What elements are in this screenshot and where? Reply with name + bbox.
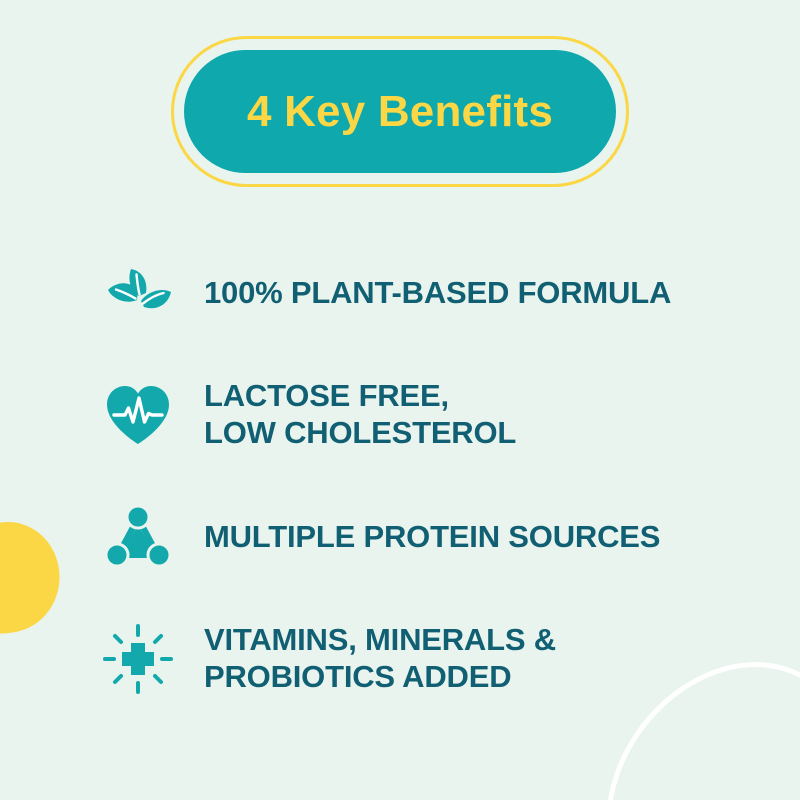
benefit-item-protein-sources: MULTIPLE PROTEIN SOURCES bbox=[0, 476, 800, 598]
benefits-poster: 4 Key Benefits bbox=[0, 0, 800, 800]
benefit-item-vitamins: VITAMINS, MINERALS & PROBIOTICS ADDED bbox=[0, 598, 800, 720]
benefits-list: 100% PLANT-BASED FORMULA LACTOSE FREE, L… bbox=[0, 232, 800, 720]
leaves-icon bbox=[100, 256, 176, 330]
benefit-label-vitamins: VITAMINS, MINERALS & PROBIOTICS ADDED bbox=[204, 622, 556, 695]
benefit-label-protein-sources: MULTIPLE PROTEIN SOURCES bbox=[204, 519, 660, 556]
benefit-label-lactose-free: LACTOSE FREE, LOW CHOLESTEROL bbox=[204, 378, 516, 451]
benefit-item-plant-based: 100% PLANT-BASED FORMULA bbox=[0, 232, 800, 354]
page-title: 4 Key Benefits bbox=[247, 90, 553, 134]
benefit-item-lactose-free: LACTOSE FREE, LOW CHOLESTEROL bbox=[0, 354, 800, 476]
benefit-label-plant-based: 100% PLANT-BASED FORMULA bbox=[204, 275, 671, 312]
heart-pulse-icon bbox=[100, 378, 176, 452]
molecule-triangle-icon bbox=[100, 500, 176, 574]
header-badge-pill: 4 Key Benefits bbox=[184, 50, 616, 173]
header-badge: 4 Key Benefits bbox=[171, 36, 629, 187]
sparkle-plus-icon bbox=[100, 622, 176, 696]
